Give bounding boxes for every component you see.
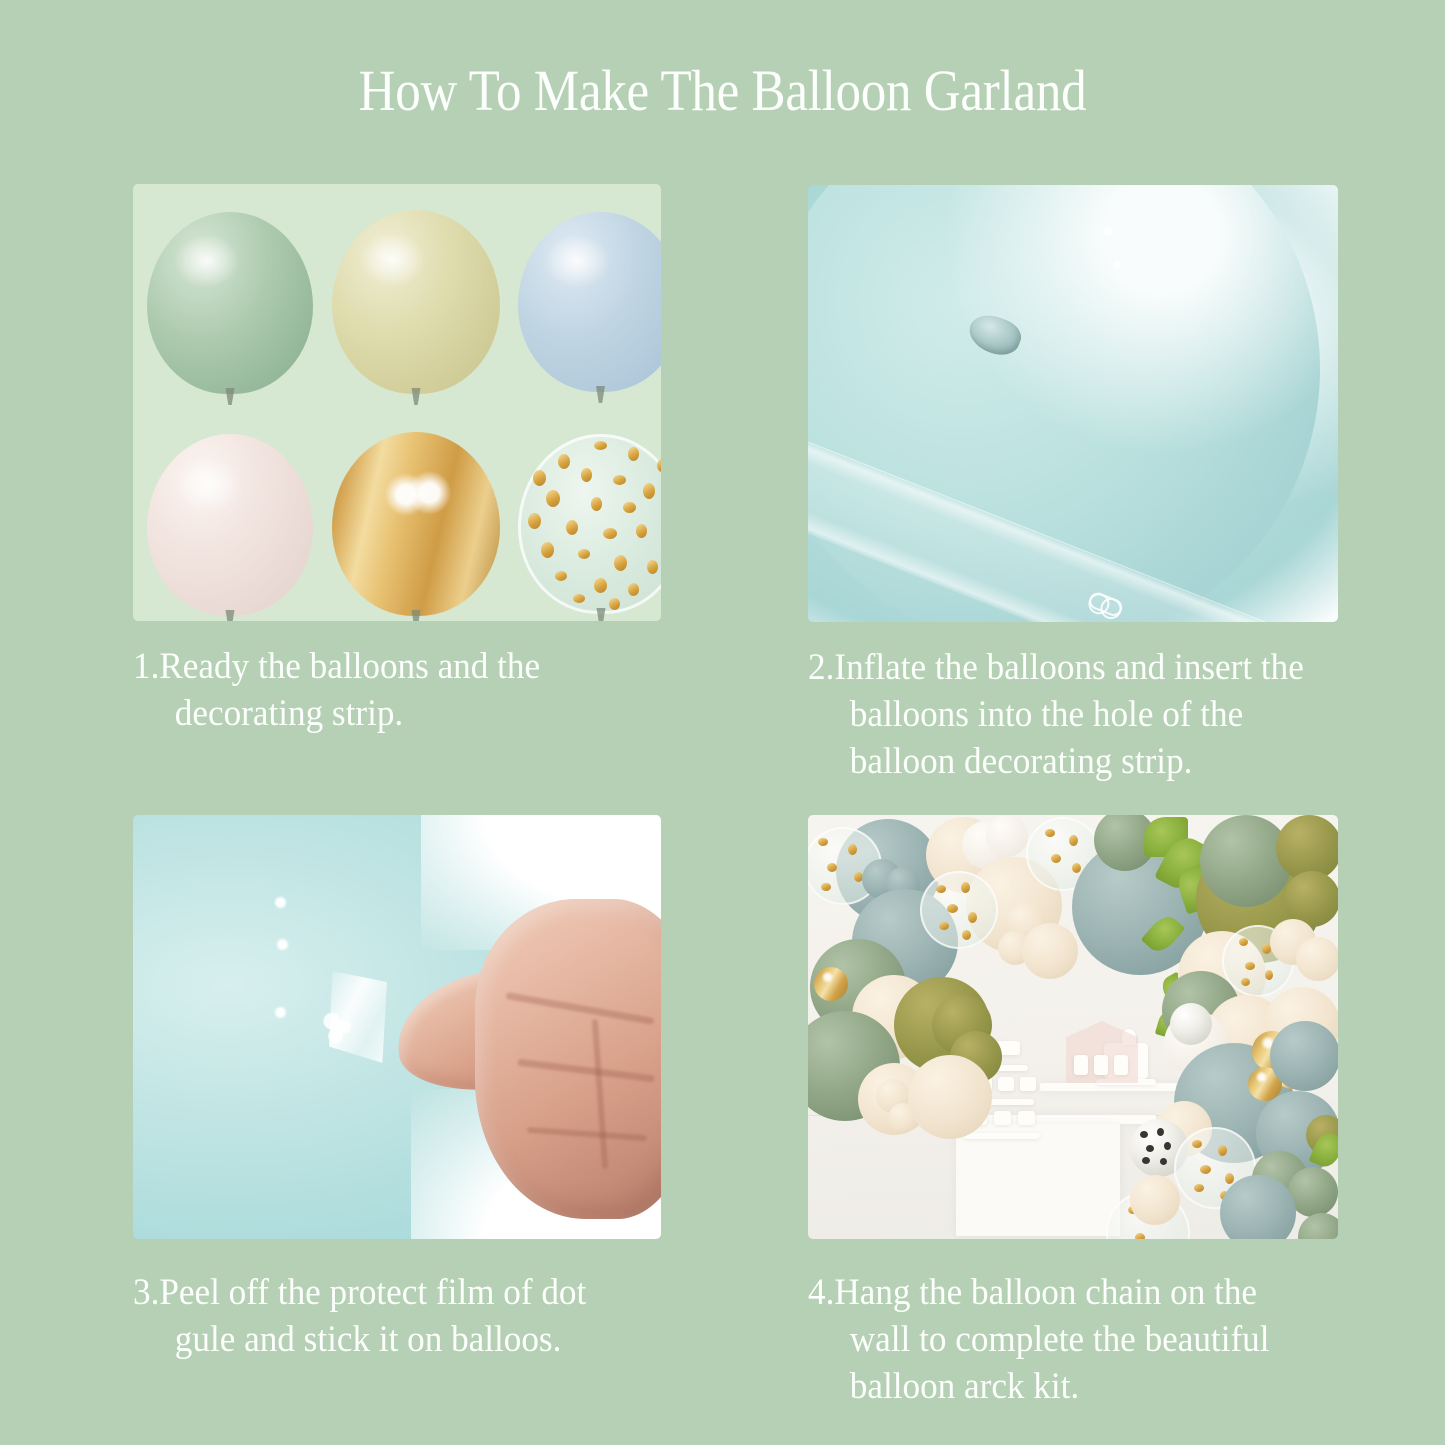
light-blue-balloon <box>518 212 661 392</box>
balloon-highlight <box>174 234 240 289</box>
step-3: 3.Peel off the protect film of dot gule … <box>133 815 661 1363</box>
balloon-pearl-small <box>1170 1003 1212 1045</box>
balloon-speck <box>1104 227 1113 236</box>
balloon-highlight <box>174 456 244 514</box>
pale-olive-balloon <box>332 210 500 394</box>
house-figure <box>1114 1055 1128 1075</box>
house-figure <box>1074 1055 1088 1075</box>
finished-balloon-arch-photo <box>808 815 1338 1239</box>
peel-glue-dot-film-photo <box>133 815 661 1239</box>
balloon-highlight <box>359 232 426 287</box>
cupcake-stand-tier <box>964 1133 1040 1139</box>
balloon-sage-small <box>1298 1213 1338 1239</box>
step-2: 2.Inflate the balloons and insert the ba… <box>808 185 1338 785</box>
balloon-highlight-dot <box>275 897 286 908</box>
step-1-caption: 1.Ready the balloons and the decorating … <box>133 643 635 737</box>
page-title: How To Make The Balloon Garland <box>87 62 1359 120</box>
balloon-swatches-photo <box>133 184 661 621</box>
balloon-confetti <box>920 871 998 949</box>
step-1: 1.Ready the balloons and the decorating … <box>133 184 661 737</box>
blush-white-balloon <box>147 434 313 616</box>
balloon-speck <box>1114 261 1121 268</box>
cupcake <box>1020 1077 1036 1091</box>
sage-green-balloon <box>147 212 313 394</box>
hand <box>391 899 661 1229</box>
cupcake <box>994 1111 1011 1125</box>
house-figure <box>1094 1055 1108 1075</box>
balloon-highlight <box>544 234 610 288</box>
step-3-caption: 3.Peel off the protect film of dot gule … <box>133 1269 635 1363</box>
balloon-cream <box>1022 923 1078 979</box>
cupcake <box>998 1077 1014 1091</box>
gold-confetti-balloon <box>518 434 661 614</box>
step-4: 4.Hang the balloon chain on the wall to … <box>808 815 1338 1410</box>
balloon-white-small <box>986 815 1028 857</box>
balloon-highlight-dot <box>277 939 288 950</box>
balloon-cream-small <box>1296 937 1338 981</box>
balloon-cream <box>908 1055 992 1139</box>
strip-hole <box>1087 590 1125 618</box>
fingers <box>475 899 661 1219</box>
balloon-gold <box>814 967 848 1001</box>
steps-grid: 1.Ready the balloons and the decorating … <box>0 184 1445 1445</box>
balloon-cream-small <box>1130 1175 1180 1225</box>
step-2-caption: 2.Inflate the balloons and insert the ba… <box>808 644 1312 785</box>
step-4-caption: 4.Hang the balloon chain on the wall to … <box>808 1269 1312 1410</box>
chrome-gold-balloon <box>332 432 500 616</box>
cupcake <box>1018 1111 1035 1125</box>
insert-balloon-into-strip-photo <box>808 185 1338 622</box>
dessert-table-skirt <box>956 1124 1120 1236</box>
protective-film <box>329 971 387 1063</box>
balloon-highlight-dot <box>275 1007 286 1018</box>
balloon-sage-blue <box>1270 1021 1338 1091</box>
